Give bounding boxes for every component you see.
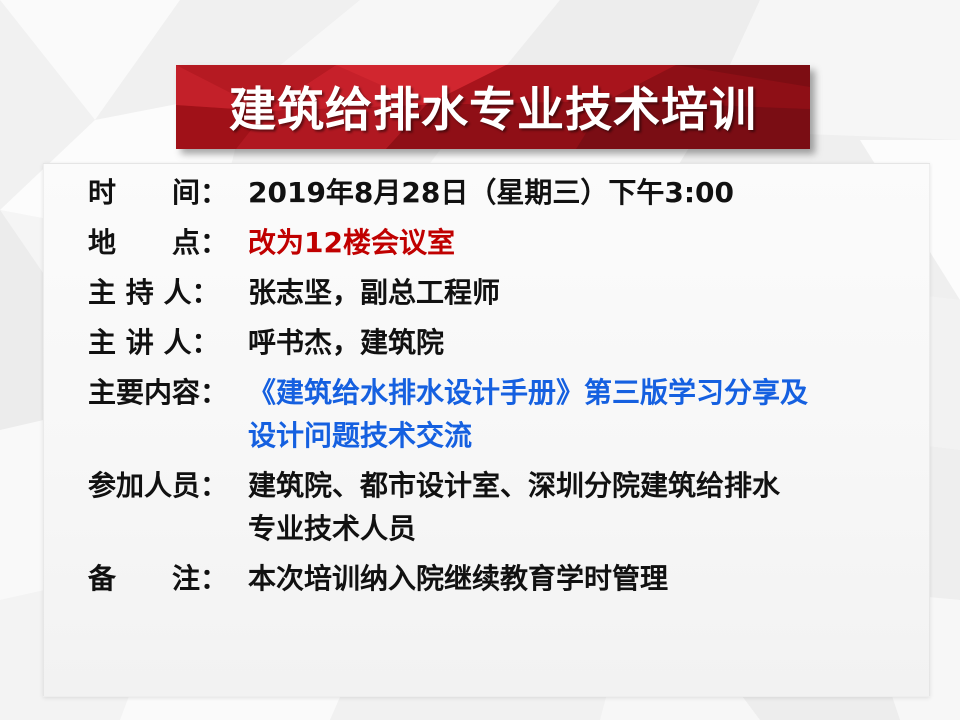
info-row-location-value: 改为12楼会议室 (248, 226, 938, 259)
slide-title: 建筑给排水专业技术培训 (176, 65, 810, 149)
title-banner: 建筑给排水专业技术培训 (176, 65, 810, 149)
info-row-speaker: 主 讲 人： 呼书杰，建筑院 (88, 326, 938, 359)
info-row-remark-label: 备 注： (88, 562, 248, 595)
info-row-participants-value-line2: 专业技术人员 (248, 512, 938, 545)
info-row-host-value: 张志坚，副总工程师 (248, 276, 938, 309)
info-row-content-label: 主要内容： (88, 376, 248, 409)
info-row-location-label: 地 点： (88, 226, 248, 259)
info-row-host-label: 主 持 人： (88, 276, 248, 309)
slide-body: 时 间： 2019年8月28日（星期三）下午3:00 地 点： 改为12楼会议室… (88, 176, 938, 612)
info-row-time: 时 间： 2019年8月28日（星期三）下午3:00 (88, 176, 938, 209)
info-row-remark: 备 注： 本次培训纳入院继续教育学时管理 (88, 562, 938, 595)
info-row-speaker-value: 呼书杰，建筑院 (248, 326, 938, 359)
info-row-time-value: 2019年8月28日（星期三）下午3:00 (248, 176, 938, 209)
info-row-location: 地 点： 改为12楼会议室 (88, 226, 938, 259)
info-row-participants-value: 建筑院、都市设计室、深圳分院建筑给排水 (248, 469, 938, 502)
info-row-remark-value: 本次培训纳入院继续教育学时管理 (248, 562, 938, 595)
info-row-speaker-label: 主 讲 人： (88, 326, 248, 359)
info-row-content-value-line2: 设计问题技术交流 (248, 419, 938, 452)
info-row-content-value: 《建筑给水排水设计手册》第三版学习分享及 (248, 376, 938, 409)
info-row-host: 主 持 人： 张志坚，副总工程师 (88, 276, 938, 309)
info-row-time-label: 时 间： (88, 176, 248, 209)
info-row-participants: 参加人员： 建筑院、都市设计室、深圳分院建筑给排水 (88, 469, 938, 502)
presentation-slide: 建筑给排水专业技术培训 时 间： 2019年8月28日（星期三）下午3:00 地… (0, 0, 960, 720)
info-row-participants-label: 参加人员： (88, 469, 248, 502)
info-row-content: 主要内容： 《建筑给水排水设计手册》第三版学习分享及 (88, 376, 938, 409)
